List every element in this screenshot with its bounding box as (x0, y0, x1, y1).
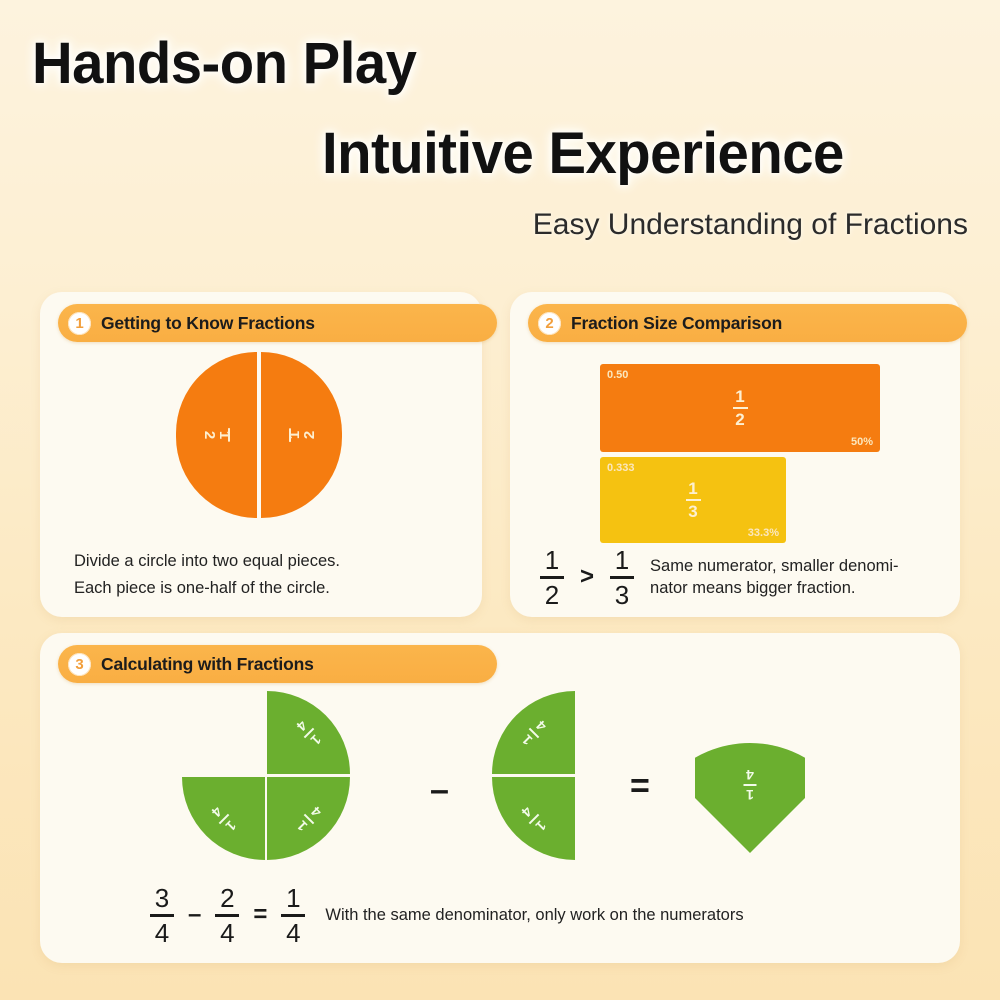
numerator: 3 (155, 885, 169, 911)
wedge-group-two-quarters: 1 4 1 4 (492, 691, 582, 861)
fraction-bar (686, 499, 701, 501)
quarter-wedge-top-left: 1 4 (492, 691, 575, 774)
numerator: 1 (286, 885, 300, 911)
numerator: 1 (545, 547, 559, 573)
pie-half-left-label: 1 2 (202, 431, 232, 439)
card3-number-badge: 3 (68, 653, 91, 676)
card-calculating-with-fractions: 3 Calculating with Fractions 1 4 1 4 (40, 633, 960, 963)
half-circle-diagram: 1 2 1 2 (176, 352, 342, 518)
numerator: 1 (615, 547, 629, 573)
quarter-wedge-top-right: 1 4 (267, 691, 350, 774)
equation-fraction-b: 2 4 (215, 885, 239, 946)
wedge-group-result: 1 4 (695, 743, 805, 853)
operator-minus: – (430, 771, 449, 810)
fraction-bar (150, 914, 174, 917)
quarter-wedge-bottom-right: 1 4 (267, 777, 350, 860)
denominator: 4 (155, 920, 169, 946)
hero-title-line-1: Hands-on Play (32, 30, 416, 97)
fraction-bar (744, 784, 757, 786)
denominator: 4 (746, 768, 754, 782)
card3-title: Calculating with Fractions (101, 654, 314, 675)
card-getting-to-know-fractions: 1 Getting to Know Fractions 1 2 1 2 Divi… (40, 292, 482, 617)
equation-equals: = (253, 901, 267, 929)
card1-number-badge: 1 (68, 312, 91, 335)
bar1-fraction-label: 1 2 (600, 388, 880, 428)
hero-header: Hands-on Play Intuitive Experience Easy … (0, 0, 1000, 270)
numerator: 2 (220, 885, 234, 911)
card1-header-pill: 1 Getting to Know Fractions (58, 304, 497, 342)
numerator: 1 (735, 388, 744, 405)
quarter-wedge-bottom-left: 1 4 (182, 777, 265, 860)
card3-equation-row: 3 4 – 2 4 = 1 4 With the same denominato… (150, 885, 744, 946)
inequality-right-fraction: 1 3 (610, 547, 634, 608)
denominator: 2 (202, 431, 217, 439)
comparison-bar-one-half: 0.50 1 2 50% (600, 364, 880, 452)
inequality-left-fraction: 1 2 (540, 547, 564, 608)
card2-title: Fraction Size Comparison (571, 313, 782, 334)
denominator: 2 (735, 411, 744, 428)
fraction-bar (215, 914, 239, 917)
wedge-label: 1 4 (744, 768, 757, 802)
denominator: 2 (545, 582, 559, 608)
poster-canvas: Hands-on Play Intuitive Experience Easy … (0, 0, 1000, 1000)
fraction-bar (281, 914, 305, 917)
fraction-bar (540, 576, 564, 579)
equation-fraction-c: 1 4 (281, 885, 305, 946)
comparison-bar-one-third: 0.333 1 3 33.3% (600, 457, 786, 543)
card3-header-pill: 3 Calculating with Fractions (58, 645, 497, 683)
fraction-bar (733, 407, 748, 409)
card2-equation-row: 1 2 > 1 3 Same numerator, smaller denomi… (540, 547, 899, 608)
denominator: 3 (615, 582, 629, 608)
bar2-fraction-label: 1 3 (600, 480, 786, 520)
card2-header-pill: 2 Fraction Size Comparison (528, 304, 967, 342)
card1-caption-line-1: Divide a circle into two equal pieces. (74, 550, 340, 574)
bar1-decimal-label: 0.50 (607, 369, 628, 381)
operator-equals: = (630, 767, 650, 806)
pie-half-left: 1 2 (176, 352, 257, 518)
bar2-percent-label: 33.3% (748, 527, 779, 539)
bar1-percent-label: 50% (851, 436, 873, 448)
fraction-bar (289, 428, 291, 442)
fraction-bar (228, 428, 230, 442)
fraction-bar (610, 576, 634, 579)
pie-half-right: 1 2 (261, 352, 342, 518)
equation-fraction-a: 3 4 (150, 885, 174, 946)
numerator: 1 (746, 788, 754, 802)
numerator: 1 (688, 480, 697, 497)
hero-title-line-2: Intuitive Experience (322, 120, 844, 187)
denominator: 4 (286, 920, 300, 946)
card2-caption-line-1: Same numerator, smaller denomi- (650, 555, 899, 577)
inequality-operator: > (580, 563, 594, 591)
bar2-decimal-label: 0.333 (607, 462, 635, 474)
card2-number-badge: 2 (538, 312, 561, 335)
wedge-group-three-quarters: 1 4 1 4 1 4 (182, 691, 352, 861)
pie-half-right-label: 1 2 (287, 431, 317, 439)
hero-subtitle: Easy Understanding of Fractions (533, 208, 968, 242)
card-fraction-size-comparison: 2 Fraction Size Comparison 0.50 1 2 50% … (510, 292, 960, 617)
card1-caption-line-2: Each piece is one-half of the circle. (74, 577, 330, 601)
equation-minus: – (188, 901, 201, 929)
card3-caption: With the same denominator, only work on … (325, 904, 743, 926)
denominator: 2 (302, 431, 317, 439)
denominator: 4 (220, 920, 234, 946)
card2-caption-line-2: nator means bigger fraction. (650, 577, 899, 599)
denominator: 3 (688, 503, 697, 520)
card1-title: Getting to Know Fractions (101, 313, 315, 334)
quarter-wedge-bottom-left-2: 1 4 (492, 777, 575, 860)
